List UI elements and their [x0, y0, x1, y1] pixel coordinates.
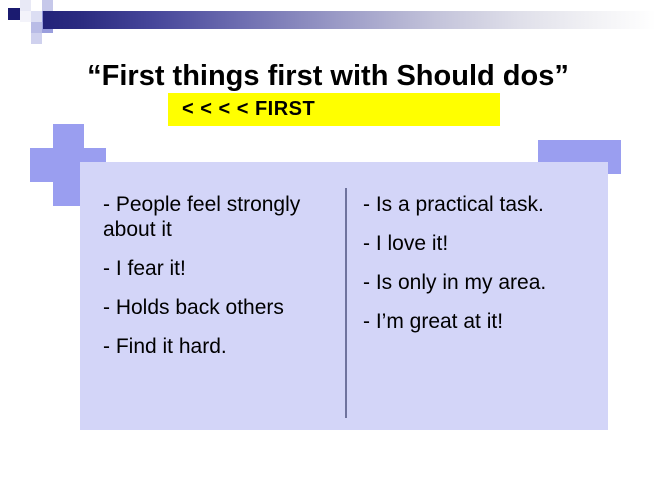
list-item: - Find it hard.: [103, 334, 338, 359]
column-divider: [345, 188, 347, 418]
decorative-square-icon: [20, 22, 31, 33]
list-item: - People feel strongly about it: [103, 192, 338, 242]
decorative-square-icon: [31, 33, 42, 44]
slide-canvas: “First things first with Should dos” < <…: [0, 0, 656, 492]
list-item: - Is a practical task.: [363, 192, 603, 217]
first-banner-label: < < < < FIRST: [182, 98, 315, 121]
list-item: - Is only in my area.: [363, 270, 603, 295]
list-item: - Holds back others: [103, 295, 338, 320]
page-title: “First things first with Should dos”: [0, 59, 656, 93]
header-gradient-bar: [43, 11, 656, 29]
decorative-square-icon: [31, 11, 42, 22]
list-item: - I fear it!: [103, 256, 338, 281]
decorative-square-icon: [20, 11, 31, 22]
left-column: - People feel strongly about it - I fear…: [103, 192, 338, 359]
navy-square-icon: [8, 8, 20, 20]
decorative-square-icon: [31, 0, 42, 11]
first-banner: < < < < FIRST: [168, 93, 500, 126]
list-item: - I’m great at it!: [363, 309, 603, 334]
decorative-square-icon: [20, 0, 31, 11]
right-column: - Is a practical task. - I love it! - Is…: [363, 192, 603, 334]
content-panel: - People feel strongly about it - I fear…: [80, 162, 608, 430]
list-item: - I love it!: [363, 231, 603, 256]
decorative-square-icon: [31, 22, 42, 33]
decorative-square-icon: [42, 0, 53, 11]
